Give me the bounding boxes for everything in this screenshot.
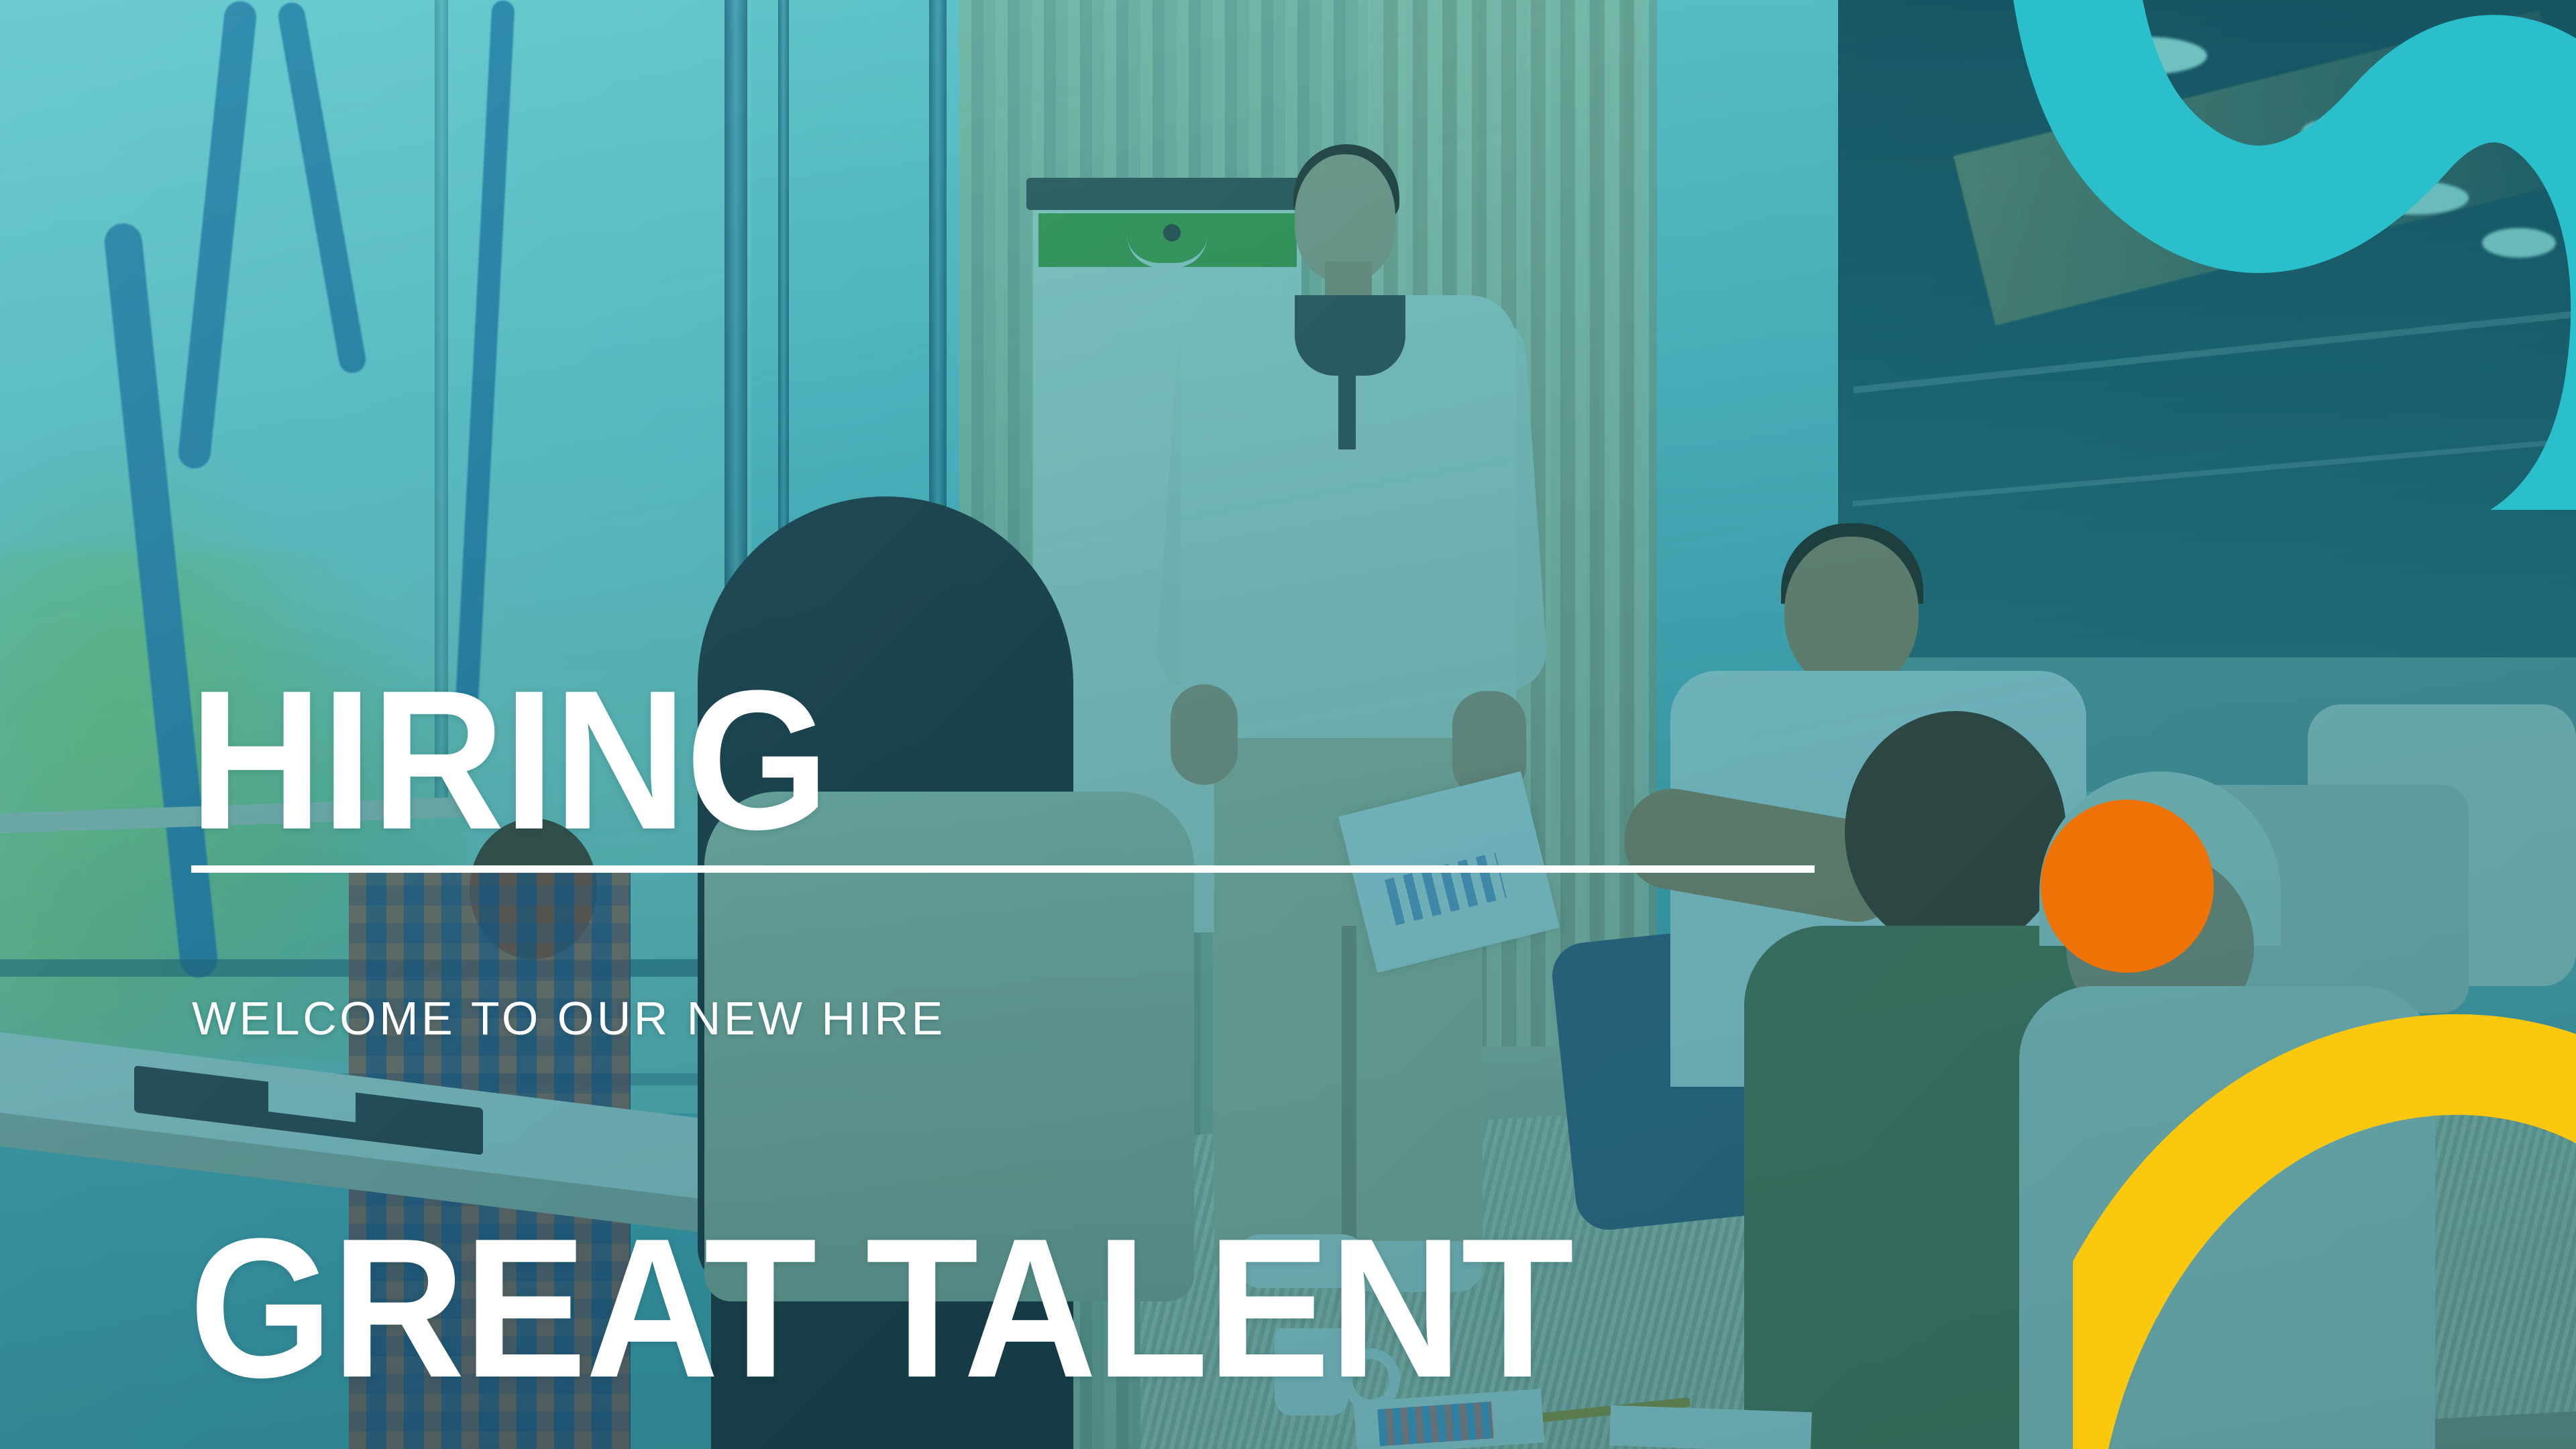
headline-line-1: HIRING xyxy=(189,669,1572,851)
headline-line-2: GREAT TALENT xyxy=(189,1217,1572,1399)
poster-canvas: HIRING GREAT TALENT WELCOME TO OUR NEW H… xyxy=(0,0,2576,1449)
subtitle: WELCOME TO OUR NEW HIRE xyxy=(192,991,946,1045)
teal-swirl-shape xyxy=(1986,0,2576,510)
title-divider xyxy=(191,865,1815,873)
orange-dot-shape xyxy=(2041,800,2214,973)
page-title: HIRING GREAT TALENT xyxy=(189,303,1572,1449)
yellow-arc-shape xyxy=(2073,1006,2576,1449)
